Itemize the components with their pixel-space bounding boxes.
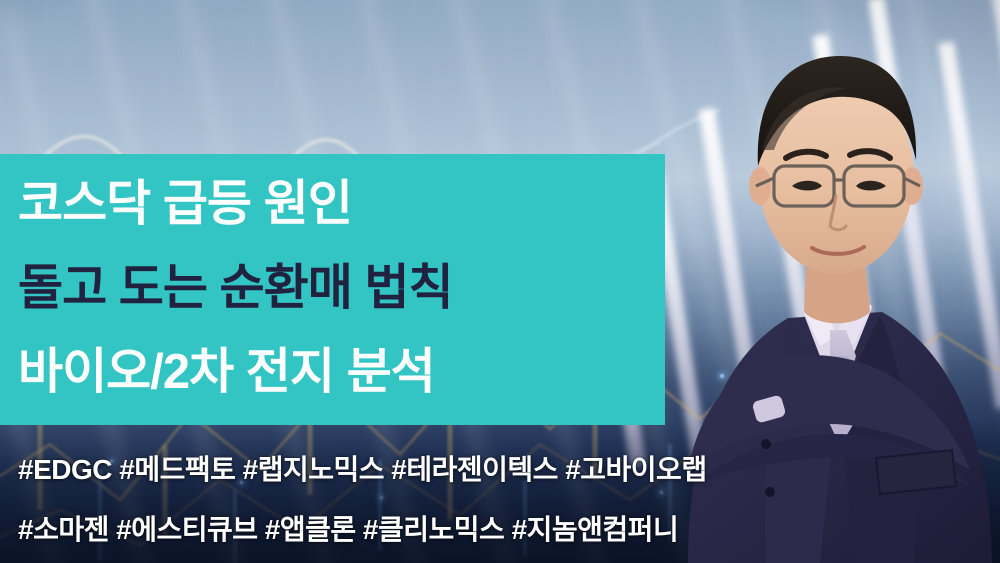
title-banner: 코스닥 급등 원인 돌고 도는 순환매 법칙 바이오/2차 전지 분석 <box>0 154 665 425</box>
hashtag-line-1: #EDGC #메드팩토 #랩지노믹스 #테라젠이텍스 #고바이오랩 <box>18 440 898 500</box>
thumbnail-canvas: 코스닥 급등 원인 돌고 도는 순환매 법칙 바이오/2차 전지 분석 #EDG… <box>0 0 1000 563</box>
hashtag-block: #EDGC #메드팩토 #랩지노믹스 #테라젠이텍스 #고바이오랩 #소마젠 #… <box>18 440 898 560</box>
title-line-1: 코스닥 급등 원인 <box>18 162 665 246</box>
hashtag-line-2: #소마젠 #에스티큐브 #앱클론 #클리노믹스 #지놈앤컴퍼니 <box>18 500 898 560</box>
title-line-2: 돌고 도는 순환매 법칙 <box>18 246 665 330</box>
title-line-3: 바이오/2차 전지 분석 <box>18 330 665 414</box>
